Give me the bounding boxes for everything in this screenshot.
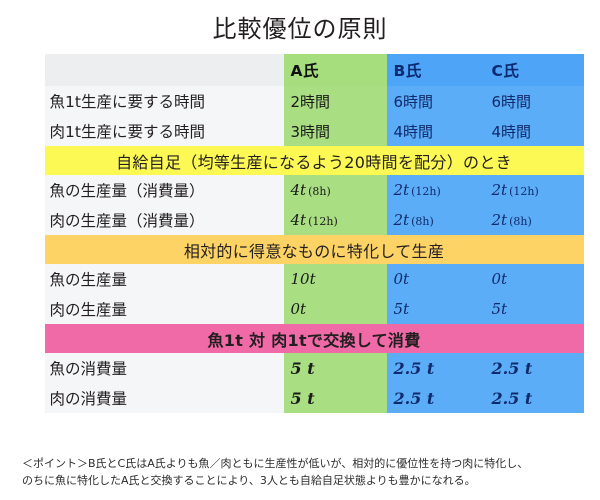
cell-c: 0t <box>485 264 584 294</box>
value-a: 4t <box>291 211 307 229</box>
value-c: 2.5 t <box>492 359 533 378</box>
value-c: 2t <box>492 181 508 199</box>
cell-b: 4時間 <box>387 116 485 146</box>
cell-b: 2t(12h) <box>387 175 485 205</box>
column-header-c: C氏 <box>485 54 584 86</box>
cell-b: 0t <box>387 264 485 294</box>
cell-b: 2t(8h) <box>387 205 485 235</box>
band-label-specialization: 相対的に得意なものに特化して生産 <box>45 235 584 264</box>
hours-a: (8h) <box>308 185 331 198</box>
comparison-table: A氏 B氏 C氏 魚1t生産に要する時間 2時間 6時間 6時間 肉1t生産に要… <box>45 54 584 413</box>
value-b: 2t <box>394 211 410 229</box>
band-row-exchange: 魚1t 対 肉1tで交換して消費 <box>45 324 584 353</box>
cell-c: 6時間 <box>485 86 584 116</box>
table-row: 魚の生産量（消費量） 4t(8h) 2t(12h) 2t(12h) <box>45 175 584 205</box>
row-label: 魚の生産量（消費量） <box>45 175 284 205</box>
band-label-exchange: 魚1t 対 肉1tで交換して消費 <box>45 324 584 353</box>
value-c: 2t <box>492 211 508 229</box>
table-row: 肉の消費量 5 t 2.5 t 2.5 t <box>45 383 584 413</box>
cell-c: 2.5 t <box>485 383 584 413</box>
hours-c: (12h) <box>509 185 539 198</box>
footnote-line-2: のちに魚に特化したA氏と交換することにより、3人とも自給自足状態よりも豊かになれ… <box>22 472 584 489</box>
footnote: ＜ポイント＞B氏とC氏はA氏よりも魚／肉ともに生産性が低いが、相対的に優位性を持… <box>22 455 584 489</box>
value-b: 2t <box>394 181 410 199</box>
table-row: 肉の生産量 0t 5t 5t <box>45 294 584 324</box>
hours-a: (12h) <box>308 215 338 228</box>
row-label: 肉の消費量 <box>45 383 284 413</box>
comparison-table-wrapper: A氏 B氏 C氏 魚1t生産に要する時間 2時間 6時間 6時間 肉1t生産に要… <box>17 54 584 413</box>
value-c: 5t <box>492 300 508 318</box>
row-label: 肉1t生産に要する時間 <box>45 116 284 146</box>
row-label: 魚の生産量 <box>45 264 284 294</box>
table-row: 魚の生産量 10t 0t 0t <box>45 264 584 294</box>
header-label-cell <box>45 54 284 86</box>
cell-b: 2.5 t <box>387 383 485 413</box>
cell-a: 3時間 <box>284 116 387 146</box>
table-row: 魚1t生産に要する時間 2時間 6時間 6時間 <box>45 86 584 116</box>
row-label: 魚1t生産に要する時間 <box>45 86 284 116</box>
value-a: 5 t <box>291 359 315 378</box>
cell-b: 5t <box>387 294 485 324</box>
hours-b: (8h) <box>411 215 434 228</box>
value-a: 5 t <box>291 389 315 408</box>
band-row-specialization: 相対的に得意なものに特化して生産 <box>45 235 584 264</box>
cell-a: 4t(8h) <box>284 175 387 205</box>
value-c: 2.5 t <box>492 389 533 408</box>
row-label: 肉の生産量（消費量） <box>45 205 284 235</box>
cell-a: 2時間 <box>284 86 387 116</box>
cell-b: 6時間 <box>387 86 485 116</box>
cell-c: 2.5 t <box>485 353 584 383</box>
value-c: 0t <box>492 270 508 288</box>
row-label: 魚の消費量 <box>45 353 284 383</box>
hours-c: (8h) <box>509 215 532 228</box>
page-title: 比較優位の原則 <box>0 0 600 44</box>
cell-a: 5 t <box>284 353 387 383</box>
value-a: 4t <box>291 181 307 199</box>
value-b: 2.5 t <box>394 359 435 378</box>
column-header-a: A氏 <box>284 54 387 86</box>
hours-b: (12h) <box>411 185 441 198</box>
column-header-b: B氏 <box>387 54 485 86</box>
value-a: 0t <box>291 300 307 318</box>
value-b: 0t <box>394 270 410 288</box>
cell-a: 0t <box>284 294 387 324</box>
row-label: 肉の生産量 <box>45 294 284 324</box>
cell-c: 2t(8h) <box>485 205 584 235</box>
value-b: 5t <box>394 300 410 318</box>
cell-a: 10t <box>284 264 387 294</box>
cell-c: 2t(12h) <box>485 175 584 205</box>
cell-b: 2.5 t <box>387 353 485 383</box>
cell-c: 5t <box>485 294 584 324</box>
cell-c: 4時間 <box>485 116 584 146</box>
cell-a: 5 t <box>284 383 387 413</box>
table-row: 魚の消費量 5 t 2.5 t 2.5 t <box>45 353 584 383</box>
table-row: 肉の生産量（消費量） 4t(12h) 2t(8h) 2t(8h) <box>45 205 584 235</box>
footnote-line-1: ＜ポイント＞B氏とC氏はA氏よりも魚／肉ともに生産性が低いが、相対的に優位性を持… <box>22 455 584 472</box>
comparative-advantage-slide: 比較優位の原則 A氏 B氏 C氏 魚1t生産に要する時間 2時間 6時間 <box>0 0 600 500</box>
table-header-row: A氏 B氏 C氏 <box>45 54 584 86</box>
value-a: 10t <box>291 270 316 288</box>
cell-a: 4t(12h) <box>284 205 387 235</box>
value-b: 2.5 t <box>394 389 435 408</box>
band-row-self-sufficiency: 自給自足（均等生産になるよう20時間を配分）のとき <box>45 146 584 175</box>
table-row: 肉1t生産に要する時間 3時間 4時間 4時間 <box>45 116 584 146</box>
band-label-self-sufficiency: 自給自足（均等生産になるよう20時間を配分）のとき <box>45 146 584 175</box>
